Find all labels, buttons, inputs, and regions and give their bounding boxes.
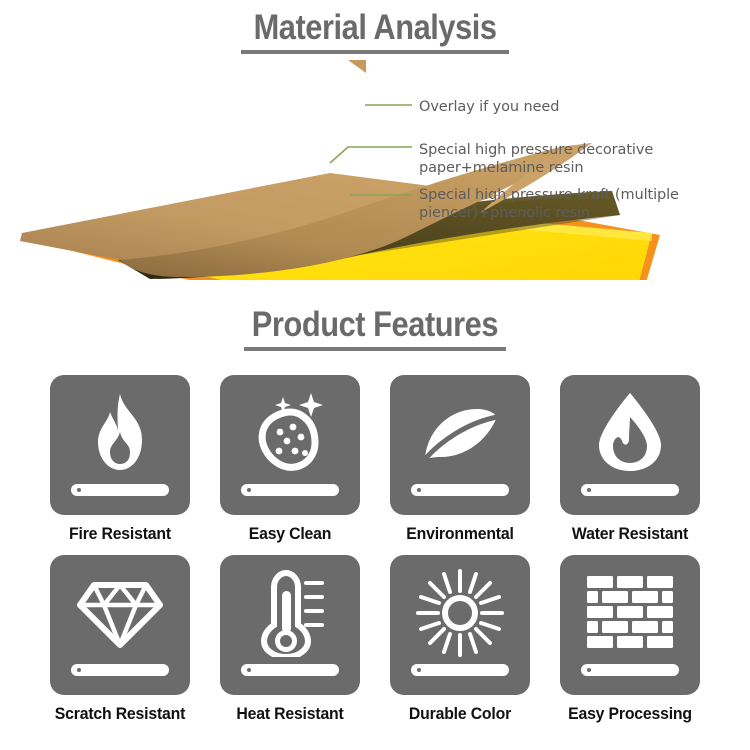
diamond-icon	[50, 561, 190, 665]
feature-cell-easy-clean[interactable]: Easy Clean	[205, 375, 375, 544]
feature-label: Durable Color	[381, 704, 539, 724]
material-analysis-title: Material Analysis	[253, 10, 496, 47]
feature-label: Environmental	[381, 524, 539, 544]
feature-tile[interactable]	[560, 375, 700, 515]
feature-cell-water-resistant[interactable]: Water Resistant	[545, 375, 715, 544]
feature-label: Easy Clean	[211, 524, 369, 544]
material-analysis-heading: Material Analysis	[0, 10, 750, 54]
product-features-title: Product Features	[252, 307, 498, 344]
annotation-decorative-paper: Special high pressure decorative paper+m…	[419, 142, 679, 177]
feature-tile[interactable]	[50, 555, 190, 695]
tile-base-bar	[71, 664, 169, 676]
tile-base-bar	[241, 484, 339, 496]
tile-base-bar	[581, 664, 679, 676]
thermometer-icon	[220, 561, 360, 665]
sun-icon	[390, 561, 530, 665]
feature-label: Fire Resistant	[41, 524, 199, 544]
leaf-icon	[390, 381, 530, 485]
product-features-heading: Product Features	[0, 307, 750, 351]
tile-base-bar	[581, 484, 679, 496]
feature-cell-durable-color[interactable]: Durable Color	[375, 555, 545, 724]
tile-base-bar	[411, 664, 509, 676]
feature-cell-scratch-resistant[interactable]: Scratch Resistant	[35, 555, 205, 724]
brick-wall-icon	[560, 561, 700, 665]
feature-row-1: Fire Resistant	[0, 375, 750, 555]
tile-base-bar	[411, 484, 509, 496]
product-features-grid: Fire Resistant	[0, 375, 750, 735]
feature-tile[interactable]	[560, 555, 700, 695]
annotation-kraft-core: Special high pressure kraft (multiple pi…	[419, 187, 704, 222]
feature-row-2: Scratch Resistant	[0, 555, 750, 735]
material-analysis-underline	[241, 50, 509, 54]
feature-label: Water Resistant	[551, 524, 709, 544]
flame-icon	[50, 381, 190, 485]
overlay-film-tip	[348, 60, 366, 73]
feature-tile[interactable]	[390, 555, 530, 695]
feature-tile[interactable]	[220, 555, 360, 695]
feature-cell-heat-resistant[interactable]: Heat Resistant	[205, 555, 375, 724]
leader-line-decorative	[330, 147, 412, 163]
feature-tile[interactable]	[220, 375, 360, 515]
feature-label: Easy Processing	[551, 704, 709, 724]
feature-tile[interactable]	[390, 375, 530, 515]
annotation-overlay: Overlay if you need	[419, 99, 719, 117]
tile-base-bar	[241, 664, 339, 676]
feature-label: Heat Resistant	[211, 704, 369, 724]
water-drop-icon	[560, 381, 700, 485]
product-features-underline	[244, 347, 506, 351]
sponge-sparkle-icon	[220, 381, 360, 485]
feature-cell-fire-resistant[interactable]: Fire Resistant	[35, 375, 205, 544]
tile-base-bar	[71, 484, 169, 496]
feature-cell-easy-processing[interactable]: Easy Processing	[545, 555, 715, 724]
feature-cell-environmental[interactable]: Environmental	[375, 375, 545, 544]
feature-label: Scratch Resistant	[41, 704, 199, 724]
feature-tile[interactable]	[50, 375, 190, 515]
